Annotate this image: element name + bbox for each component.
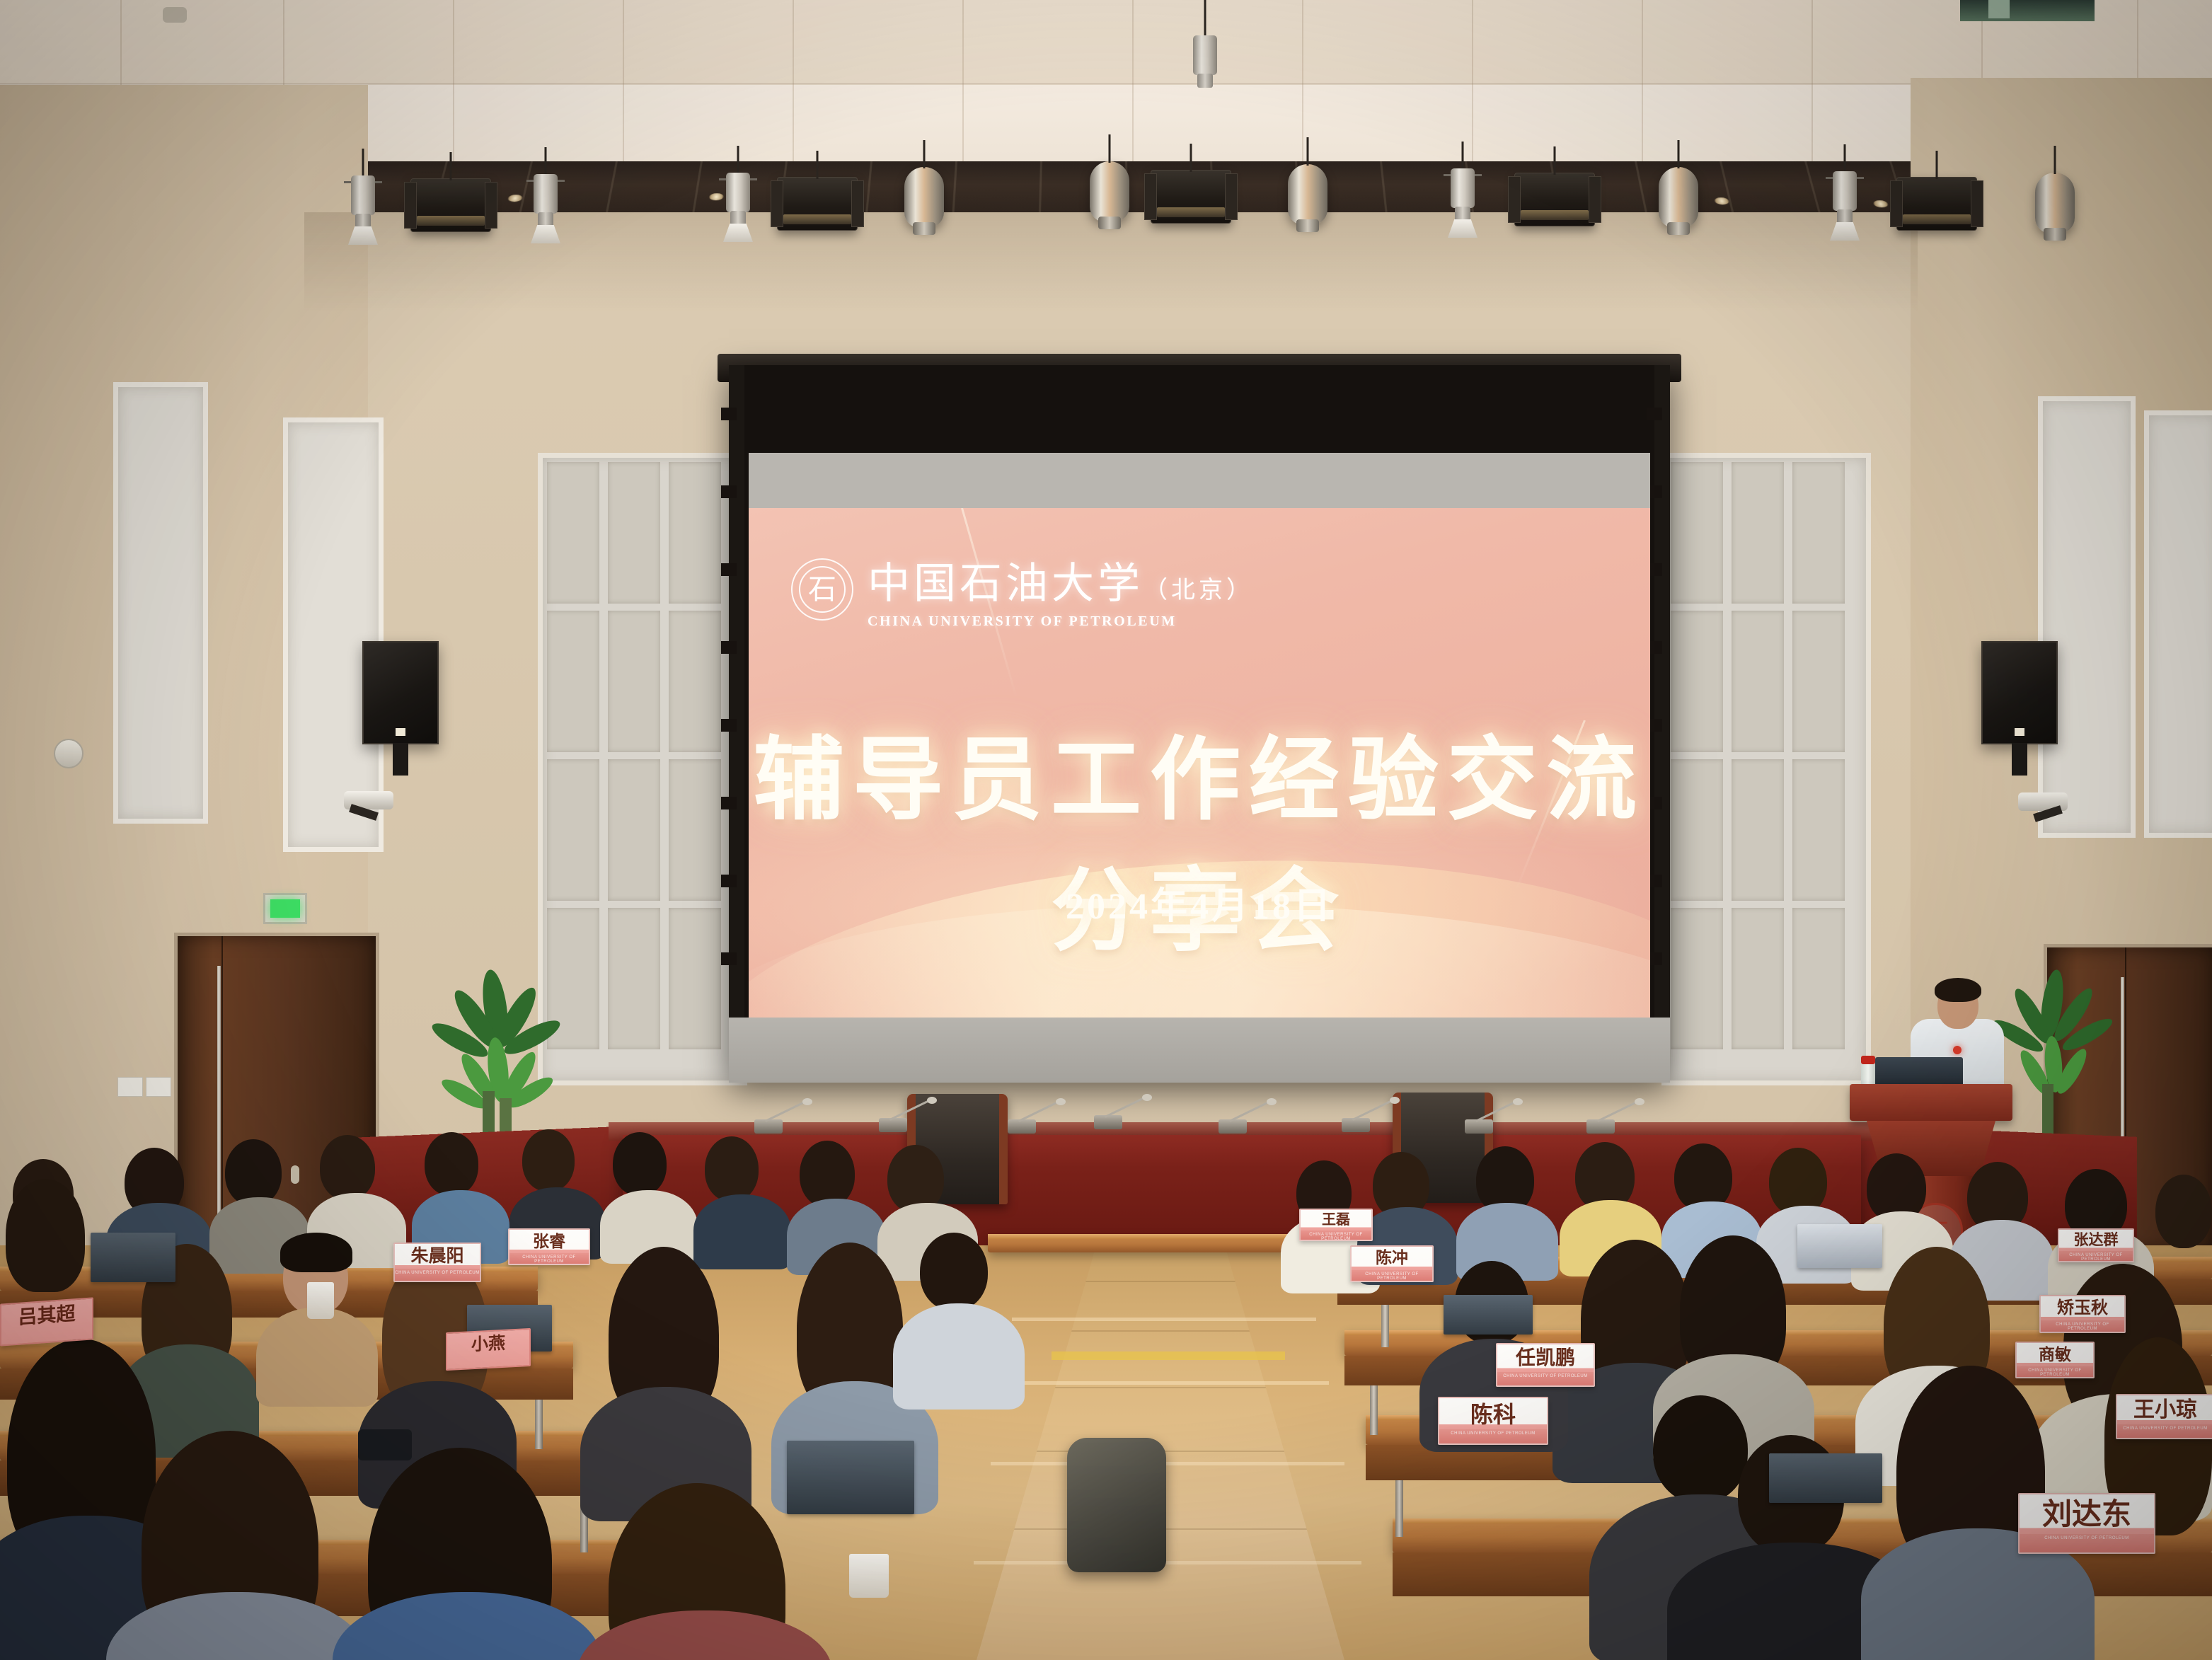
nameplate: 朱晨阳 CHINA UNIVERSITY OF PETROLEUM <box>393 1243 481 1282</box>
audience-hair <box>6 1179 85 1292</box>
audience-shoulders <box>893 1303 1025 1410</box>
drink-cup <box>849 1554 889 1598</box>
nameplate: 任凯鹏 CHINA UNIVERSITY OF PETROLEUM <box>1496 1343 1595 1387</box>
fresnel-light-icon <box>1151 170 1231 224</box>
fresnel-light-icon <box>1514 173 1595 226</box>
podium-laptop <box>1875 1057 1963 1087</box>
nameplate: 张睿 CHINA UNIVERSITY OF PETROLEUM <box>508 1228 590 1265</box>
nameplate: 陈科 CHINA UNIVERSITY OF PETROLEUM <box>1438 1397 1548 1445</box>
speaker-icon <box>362 641 439 744</box>
nameplate: 小燕 <box>446 1328 531 1371</box>
light-switch[interactable] <box>146 1077 171 1097</box>
desk-leg <box>1381 1305 1389 1347</box>
laptop[interactable] <box>1769 1453 1882 1503</box>
fresnel-light-icon <box>777 177 858 231</box>
backpack <box>1067 1438 1166 1572</box>
acoustic-panel <box>2038 396 2136 838</box>
exit-sign-icon <box>263 893 307 924</box>
desk-leg <box>535 1400 543 1449</box>
laptop[interactable] <box>1444 1295 1533 1335</box>
podium-top <box>1850 1084 2012 1121</box>
acoustic-panel <box>2144 410 2212 838</box>
microphone-icon <box>875 1111 911 1132</box>
nameplate: 商敏 CHINA UNIVERSITY OF PETROLEUM <box>2015 1342 2095 1378</box>
laptop[interactable] <box>91 1233 175 1282</box>
stair-nosing <box>974 1561 1361 1564</box>
stair-nosing <box>1012 1318 1316 1321</box>
ceiling-upper <box>0 0 2212 83</box>
spotlight-icon <box>1828 171 1861 239</box>
bulb-lamp-icon <box>1090 161 1129 222</box>
audience-hair <box>280 1233 352 1272</box>
presenter-lapel-pin <box>1953 1046 1962 1054</box>
nameplate: 王小琼 CHINA UNIVERSITY OF PETROLEUM <box>2116 1394 2212 1439</box>
screen-bottom-band <box>729 1018 1670 1083</box>
spotlight-icon <box>347 175 379 243</box>
nameplate: 刘达东 CHINA UNIVERSITY OF PETROLEUM <box>2018 1493 2155 1554</box>
spotlight-icon <box>529 174 562 242</box>
potted-plant-icon <box>425 964 566 1155</box>
spotlight-icon <box>1446 168 1479 236</box>
spotlight-icon <box>1189 35 1221 103</box>
screen-top-band <box>749 453 1650 512</box>
wall-clock-icon <box>54 739 83 768</box>
fresnel-light-icon <box>1896 177 1977 231</box>
microphone-icon <box>1003 1112 1040 1134</box>
university-seal-icon: 石 <box>791 558 853 621</box>
microphone-icon <box>1214 1112 1251 1134</box>
acoustic-panel <box>283 417 384 852</box>
audience-head <box>425 1132 478 1196</box>
screen-side-rail <box>729 365 744 1080</box>
audience-head <box>800 1141 855 1207</box>
audience-head <box>920 1233 988 1310</box>
audience-head <box>705 1136 759 1201</box>
drink-cup <box>307 1282 334 1319</box>
nameplate: 矫玉秋 CHINA UNIVERSITY OF PETROLEUM <box>2039 1295 2126 1333</box>
screen-side-rail <box>1654 365 1670 1080</box>
nameplate: 王磊 CHINA UNIVERSITY OF PETROLEUM <box>1299 1209 1373 1241</box>
audience-shoulders <box>256 1308 378 1407</box>
audience-head <box>1653 1395 1748 1503</box>
audience-shoulders <box>693 1194 791 1269</box>
camera-icon <box>344 791 393 809</box>
light-switch[interactable] <box>117 1077 143 1097</box>
audience-head <box>2155 1175 2212 1248</box>
speaker-icon <box>1981 641 2058 744</box>
microphone-icon <box>1090 1108 1127 1129</box>
university-name-cn: 中国石油大学（北京） <box>868 549 1254 611</box>
ceiling-smoke-detector-icon <box>163 7 187 23</box>
ceiling-vent <box>1960 0 2095 21</box>
laptop[interactable] <box>787 1441 914 1514</box>
desk-leg <box>1395 1480 1403 1537</box>
microphone-icon <box>1461 1112 1497 1134</box>
projected-slide: 石 中国石油大学（北京） CHINA UNIVERSITY OF PETROLE… <box>749 508 1650 1018</box>
presenter-hair <box>1935 978 1981 1002</box>
microphone-icon <box>750 1112 787 1134</box>
stair-nosing <box>1003 1381 1329 1385</box>
microphone-icon <box>1582 1112 1619 1134</box>
nameplate: 陈冲 CHINA UNIVERSITY OF PETROLEUM <box>1350 1245 1434 1282</box>
camera-icon <box>2018 792 2068 811</box>
bulb-lamp-icon <box>2035 173 2075 234</box>
audience-head <box>522 1129 575 1192</box>
acoustic-grid-panel <box>1661 453 1871 1085</box>
seal-glyph: 石 <box>808 575 836 604</box>
nameplate: 张达群 CHINA UNIVERSITY OF PETROLEUM <box>2058 1228 2134 1262</box>
acoustic-panel <box>113 382 208 824</box>
slide-date: 2024年4月18日 <box>749 876 1650 929</box>
laptop[interactable] <box>1797 1224 1882 1268</box>
audience-head <box>613 1132 667 1196</box>
bulb-lamp-icon <box>1288 164 1327 225</box>
microphone-icon <box>1337 1111 1374 1132</box>
desk-row <box>988 1234 1327 1252</box>
nameplate: 吕其超 <box>0 1297 93 1346</box>
desk-leg <box>1370 1385 1378 1435</box>
university-logo: 石 中国石油大学（北京） CHINA UNIVERSITY OF PETROLE… <box>791 549 1254 630</box>
phone[interactable] <box>358 1429 412 1460</box>
audience-head <box>320 1135 375 1200</box>
lecture-hall-photo: 石 中国石油大学（北京） CHINA UNIVERSITY OF PETROLE… <box>0 0 2212 1660</box>
fresnel-light-icon <box>410 178 491 232</box>
university-name-en: CHINA UNIVERSITY OF PETROLEUM <box>868 613 1254 630</box>
spotlight-icon <box>722 173 754 241</box>
bulb-lamp-icon <box>1659 167 1698 228</box>
floor-warning-tape <box>1052 1351 1285 1360</box>
acoustic-grid-panel <box>538 453 747 1085</box>
audience-head <box>225 1139 282 1206</box>
ceiling-vent-slat <box>1988 0 2010 18</box>
stair-nosing <box>991 1462 1344 1465</box>
bulb-lamp-icon <box>904 167 944 228</box>
